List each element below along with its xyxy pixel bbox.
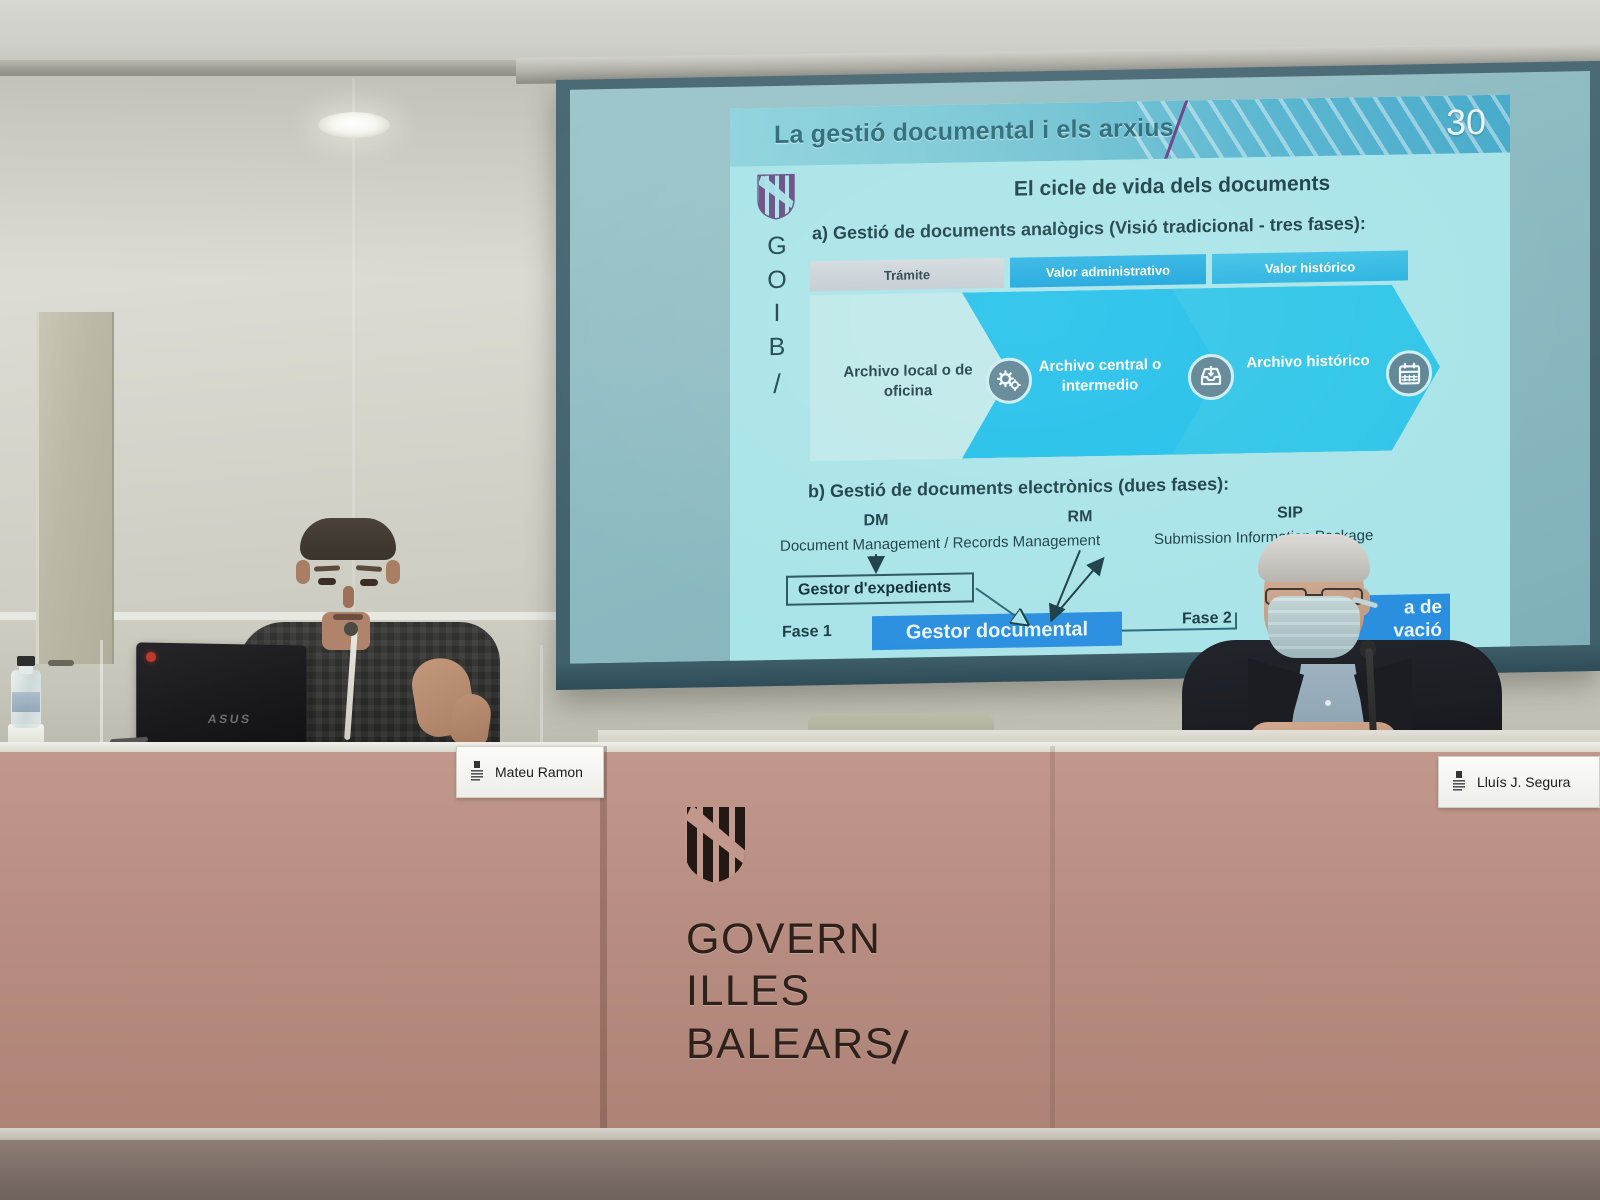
- projector-screen: La gestió documental i els arxius 30: [556, 61, 1600, 690]
- nameplate-label: Mateu Ramon: [495, 764, 583, 780]
- phase-header-valor-historico: Valor histórico: [1212, 250, 1408, 284]
- goib-letter-b: B: [769, 330, 786, 364]
- nameplate-lluis-j-segura: Lluís J. Segura: [1438, 756, 1600, 808]
- label-fase-2: Fase 2: [1182, 610, 1232, 629]
- box-gestor-expedients: Gestor d'expedients: [786, 572, 974, 605]
- govern-mini-logo-icon: [1451, 771, 1467, 793]
- box-preservacio-line2: vació: [1393, 620, 1442, 642]
- left-speaker-ear: [296, 560, 310, 584]
- laptop-brand-label: ASUS: [207, 712, 253, 726]
- logo-line-balears: BALEARS: [686, 1018, 895, 1070]
- slide-title: La gestió documental i els arxius: [774, 114, 1174, 150]
- document-lifecycle-diagram: Trámite Valor administrativo Valor histó…: [810, 250, 1430, 461]
- slide-section-b-heading: b) Gestió de documents electrònics (dues…: [808, 474, 1229, 503]
- water-bottle-cap[interactable]: [17, 656, 35, 666]
- nameplate-mateu-ramon: Mateu Ramon: [456, 746, 604, 798]
- goib-letters: G O I B /: [746, 229, 808, 402]
- laptop-indicator-icon: [146, 652, 156, 662]
- slide-subtitle: El cicle de vida dels documents: [922, 170, 1422, 203]
- left-speaker-mouth: [333, 614, 363, 620]
- logo-line-illes: ILLES: [686, 965, 895, 1017]
- ceiling-downlight-icon: [318, 112, 390, 138]
- floor: [0, 1140, 1600, 1200]
- phase-label-archivo-historico: Archivo histórico: [1238, 351, 1378, 374]
- node-rm: RM: [1050, 508, 1110, 527]
- logo-line-govern: GOVERN: [686, 913, 895, 965]
- balearic-shield-icon: [756, 174, 796, 221]
- water-bottle-label: [12, 692, 40, 712]
- goib-brand-block: G O I B /: [746, 173, 808, 424]
- node-dm: DM: [846, 512, 906, 531]
- left-speaker-ear: [386, 560, 400, 584]
- goib-letter-g: G: [767, 230, 786, 264]
- table-panel-seam: [600, 746, 607, 1152]
- left-speaker-nose: [343, 586, 354, 608]
- left-speaker-eye: [318, 578, 336, 585]
- node-sip: SIP: [1260, 504, 1320, 523]
- govern-illes-balears-logo: GOVERN ILLES BALEARS: [676, 805, 936, 1075]
- nameplate-label: Lluís J. Segura: [1477, 774, 1570, 790]
- slide-section-a-heading: a) Gestió de documents analògics (Visió …: [812, 213, 1366, 244]
- govern-logo-text: GOVERN ILLES BALEARS: [686, 913, 895, 1070]
- left-speaker-hair: [300, 518, 396, 560]
- presentation-slide: La gestió documental i els arxius 30: [730, 95, 1510, 669]
- phase-header-valor-administrativo: Valor administrativo: [1010, 254, 1206, 288]
- door-panel[interactable]: [36, 312, 114, 664]
- wall-seam: [540, 645, 543, 745]
- laptop[interactable]: [136, 642, 306, 745]
- goib-letter-o: O: [767, 263, 786, 297]
- phase-header-tramite: Trámite: [810, 258, 1004, 292]
- slide-body: G O I B / El cicle de vida dels document…: [730, 153, 1510, 669]
- right-speaker-hair: [1258, 534, 1370, 582]
- connector-line: [1235, 613, 1237, 630]
- expansion-dm-rm: Document Management / Records Management: [780, 532, 1100, 555]
- phase-label-archivo-central: Archivo central o intermedio: [1024, 355, 1176, 398]
- label-fase-1: Fase 1: [782, 623, 832, 642]
- right-speaker-shirt-button: [1325, 700, 1331, 706]
- goib-letter-i: I: [774, 297, 781, 331]
- balearic-shield-icon: [682, 805, 748, 885]
- box-gestor-documental: Gestor documental: [872, 612, 1122, 651]
- projector-screen-surface: La gestió documental i els arxius 30: [570, 71, 1590, 664]
- microphone-left-head: [344, 622, 358, 636]
- table-panel-seam: [1050, 746, 1055, 1152]
- connector-line: [1122, 628, 1237, 632]
- left-speaker-eye: [360, 579, 378, 586]
- goib-slash: /: [773, 366, 781, 402]
- conference-room-scene: La gestió documental i els arxius 30: [0, 0, 1600, 1200]
- wall-seam: [100, 640, 103, 748]
- box-preservacio-line1: a de: [1404, 597, 1442, 619]
- door-handle-icon[interactable]: [48, 660, 74, 666]
- wall-shadow: [0, 78, 560, 278]
- phase-label-archivo-local: Archivo local o de oficina: [818, 360, 998, 404]
- surgical-mask-icon: [1268, 596, 1360, 658]
- govern-mini-logo-icon: [469, 761, 485, 783]
- slide-number: 30: [1446, 101, 1486, 144]
